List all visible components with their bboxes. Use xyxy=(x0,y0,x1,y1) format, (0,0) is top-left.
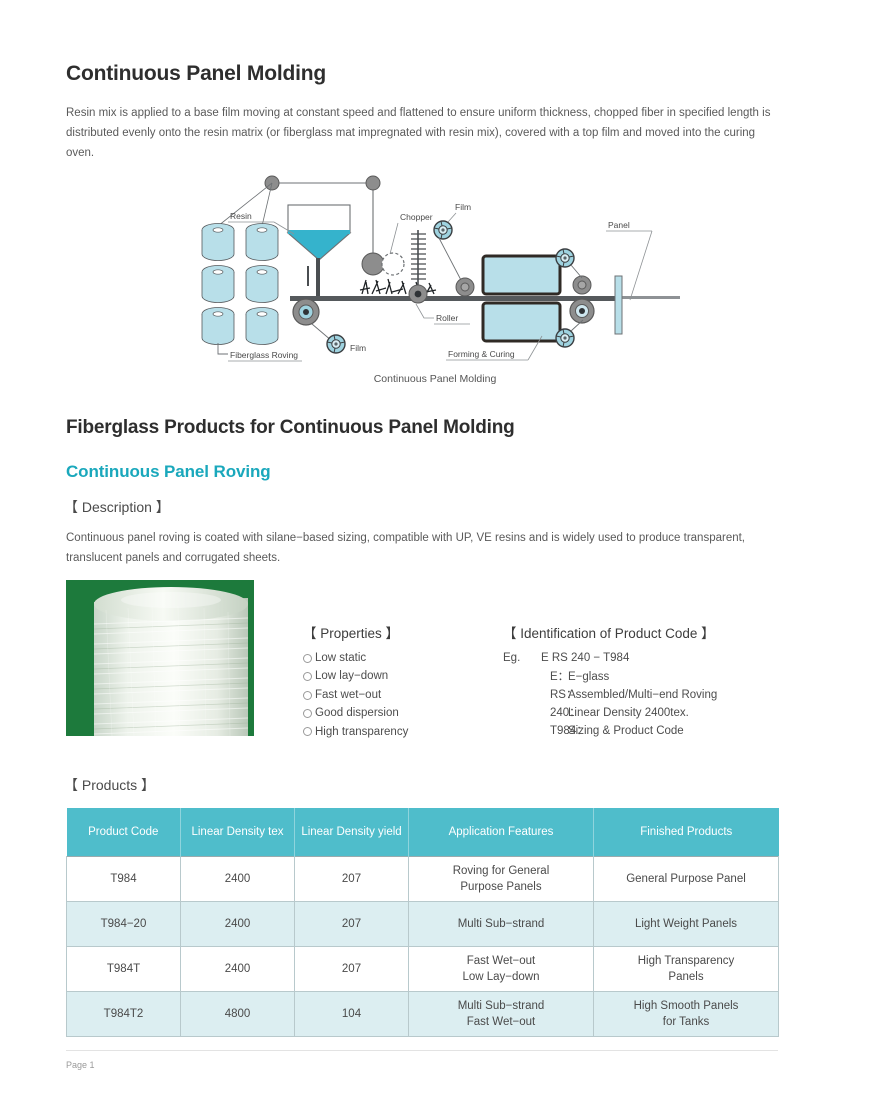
cell-yield: 104 xyxy=(295,992,409,1037)
identification-block: 【 Identification of Product Code 】 Eg. E… xyxy=(503,622,717,740)
identification-row: 240： Linear Density 2400tex. xyxy=(503,704,717,722)
example-code: E RS 240 − T984 xyxy=(541,649,629,667)
ring-bullet-icon xyxy=(303,709,312,718)
ring-bullet-icon xyxy=(303,672,312,681)
ring-bullet-icon xyxy=(303,727,312,736)
identification-value: Sizing & Product Code xyxy=(568,722,717,740)
table-row: T984−20 2400 207 Multi Sub−strand Light … xyxy=(67,902,779,947)
ring-bullet-icon xyxy=(303,654,312,663)
cell-application-features: Multi Sub−strand Fast Wet−out xyxy=(409,992,594,1037)
diagram-caption: Continuous Panel Molding xyxy=(0,373,870,385)
cell-product-code: T984T xyxy=(67,947,181,992)
column-header-finished-products: Finished Products xyxy=(594,808,779,857)
products-title: 【 Products 】 xyxy=(64,775,155,795)
property-label: Low lay−down xyxy=(315,667,388,685)
identification-row: T984： Sizing & Product Code xyxy=(503,722,717,740)
identification-value: Assembled/Multi−end Roving xyxy=(568,686,717,704)
diagram-label-fiberglass-roving: Fiberglass Roving xyxy=(230,350,298,360)
cell-application-features: Fast Wet−out Low Lay−down xyxy=(409,947,594,992)
process-diagram: Fiberglass Roving Resin Film xyxy=(190,168,690,368)
diagram-label-resin: Resin xyxy=(230,211,252,221)
products-section-heading: Fiberglass Products for Continuous Panel… xyxy=(66,417,515,439)
identification-title: 【 Identification of Product Code 】 xyxy=(503,622,717,642)
properties-title: 【 Properties 】 xyxy=(303,622,408,642)
cell-product-code: T984T2 xyxy=(67,992,181,1037)
identification-value: E−glass xyxy=(568,668,717,686)
cell-yield: 207 xyxy=(295,947,409,992)
list-item: Fast wet−out xyxy=(303,686,408,704)
identification-key: T984： xyxy=(503,722,568,740)
page-number: Page 1 xyxy=(66,1060,95,1070)
diagram-label-forming-curing: Forming & Curing xyxy=(448,349,515,359)
list-item: High transparency xyxy=(303,723,408,741)
list-item: Good dispersion xyxy=(303,704,408,722)
ring-bullet-icon xyxy=(303,691,312,700)
cell-application-features: Roving for General Purpose Panels xyxy=(409,857,594,902)
cell-application-features: Multi Sub−strand xyxy=(409,902,594,947)
properties-block: 【 Properties 】 Low static Low lay−down F… xyxy=(303,622,408,741)
roving-subheading: Continuous Panel Roving xyxy=(66,462,271,482)
column-header-linear-density-yield: Linear Density yield xyxy=(295,808,409,857)
cell-product-code: T984 xyxy=(67,857,181,902)
table-row: T984 2400 207 Roving for General Purpose… xyxy=(67,857,779,902)
cell-finished-products: Light Weight Panels xyxy=(594,902,779,947)
properties-list: Low static Low lay−down Fast wet−out Goo… xyxy=(303,649,408,741)
cell-yield: 207 xyxy=(295,902,409,947)
identification-key: E： xyxy=(503,668,568,686)
diagram-label-film-top: Film xyxy=(455,202,471,212)
table-row: T984T2 4800 104 Multi Sub−strand Fast We… xyxy=(67,992,779,1037)
table-row: T984T 2400 207 Fast Wet−out Low Lay−down… xyxy=(67,947,779,992)
cell-tex: 4800 xyxy=(181,992,295,1037)
cell-finished-products: General Purpose Panel xyxy=(594,857,779,902)
list-item: Low static xyxy=(303,649,408,667)
diagram-label-panel: Panel xyxy=(608,220,630,230)
column-header-application-features: Application Features xyxy=(409,808,594,857)
products-table: Product Code Linear Density tex Linear D… xyxy=(66,808,779,1037)
identification-example: Eg. E RS 240 − T984 xyxy=(503,649,717,667)
property-label: Low static xyxy=(315,649,366,667)
roving-product-photo xyxy=(66,580,254,736)
identification-key: 240： xyxy=(503,704,568,722)
cell-yield: 207 xyxy=(295,857,409,902)
cell-finished-products: High Transparency Panels xyxy=(594,947,779,992)
identification-row: RS： Assembled/Multi−end Roving xyxy=(503,686,717,704)
identification-row: E： E−glass xyxy=(503,668,717,686)
example-label: Eg. xyxy=(503,649,541,667)
identification-key: RS： xyxy=(503,686,568,704)
description-body: Continuous panel roving is coated with s… xyxy=(66,528,756,568)
cell-tex: 2400 xyxy=(181,902,295,947)
table-header-row: Product Code Linear Density tex Linear D… xyxy=(67,808,779,857)
document-page: Continuous Panel Molding Resin mix is ap… xyxy=(0,0,870,1120)
footer-divider xyxy=(66,1050,778,1051)
column-header-product-code: Product Code xyxy=(67,808,181,857)
list-item: Low lay−down xyxy=(303,667,408,685)
column-header-linear-density-tex: Linear Density tex xyxy=(181,808,295,857)
identification-value: Linear Density 2400tex. xyxy=(568,704,717,722)
cell-finished-products: High Smooth Panels for Tanks xyxy=(594,992,779,1037)
cell-tex: 2400 xyxy=(181,947,295,992)
intro-paragraph: Resin mix is applied to a base film movi… xyxy=(66,103,778,163)
cell-product-code: T984−20 xyxy=(67,902,181,947)
description-title: 【 Description 】 xyxy=(64,497,170,517)
page-title: Continuous Panel Molding xyxy=(66,62,326,86)
property-label: High transparency xyxy=(315,723,408,741)
diagram-label-film-bottom: Film xyxy=(350,343,366,353)
property-label: Fast wet−out xyxy=(315,686,381,704)
property-label: Good dispersion xyxy=(315,704,399,722)
identification-rows: E： E−glass RS： Assembled/Multi−end Rovin… xyxy=(503,668,717,740)
diagram-label-chopper: Chopper xyxy=(400,212,433,222)
cell-tex: 2400 xyxy=(181,857,295,902)
diagram-label-roller: Roller xyxy=(436,313,458,323)
